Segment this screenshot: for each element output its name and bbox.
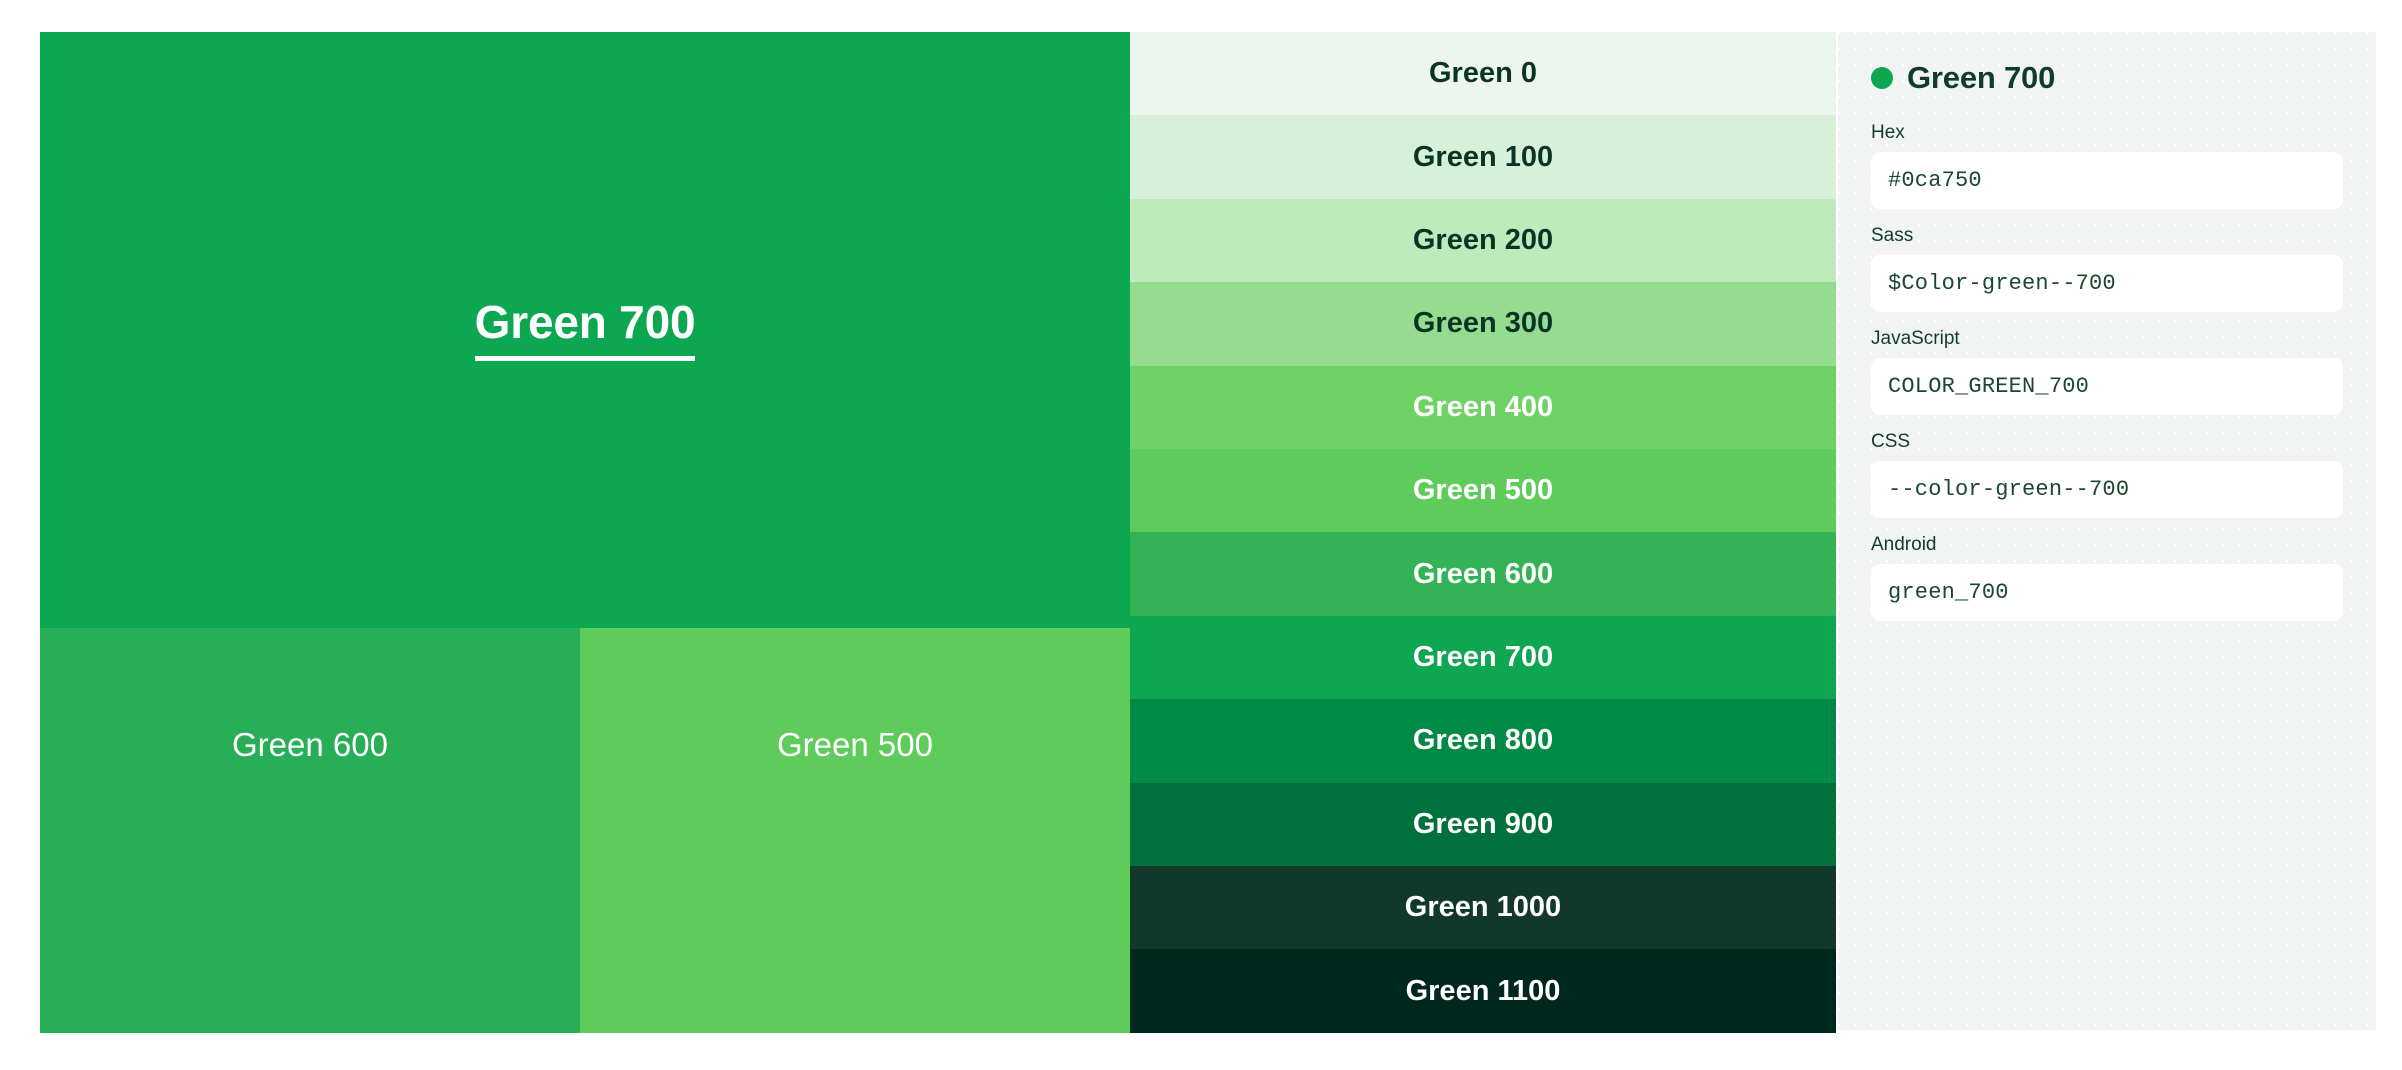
token-field: Sass$Color-green--700 <box>1871 226 2343 312</box>
color-ramp-row-label: Green 300 <box>1413 309 1553 338</box>
token-field-label: JavaScript <box>1871 329 2343 348</box>
token-field: CSS--color-green--700 <box>1871 432 2343 518</box>
color-ramp-row[interactable]: Green 1100 <box>1130 949 1836 1032</box>
token-field: Androidgreen_700 <box>1871 535 2343 621</box>
color-ramp-row-label: Green 400 <box>1413 393 1553 422</box>
color-ramp-row-label: Green 800 <box>1413 726 1553 755</box>
color-ramp-row-label: Green 100 <box>1413 143 1553 172</box>
color-ramp-row[interactable]: Green 200 <box>1130 199 1836 282</box>
color-ramp-row-label: Green 900 <box>1413 810 1553 839</box>
color-ramp-row-label: Green 500 <box>1413 476 1553 505</box>
color-detail-panel: Green 700 Hex#0ca750Sass$Color-green--70… <box>1838 32 2376 1030</box>
color-ramp-row[interactable]: Green 300 <box>1130 282 1836 365</box>
token-field: Hex#0ca750 <box>1871 123 2343 209</box>
color-ramp-list: Green 0Green 100Green 200Green 300Green … <box>1130 32 1836 1033</box>
color-ramp-row[interactable]: Green 600 <box>1130 532 1836 615</box>
color-ramp-row[interactable]: Green 400 <box>1130 366 1836 449</box>
hero-main-swatch-label: Green 700 <box>475 299 696 361</box>
color-dot-icon <box>1871 67 1893 89</box>
color-ramp-row-label: Green 600 <box>1413 560 1553 589</box>
token-field-value[interactable]: #0ca750 <box>1871 152 2343 209</box>
color-palette-page: Green 700 Green 600 Green 500 Green 0Gre… <box>0 0 2402 1070</box>
color-ramp-row[interactable]: Green 500 <box>1130 449 1836 532</box>
token-field-label: Hex <box>1871 123 2343 142</box>
color-ramp-row-label: Green 1100 <box>1406 977 1561 1006</box>
color-ramp-row-label: Green 0 <box>1429 59 1537 88</box>
token-field-label: Android <box>1871 535 2343 554</box>
color-ramp-row-label: Green 700 <box>1413 643 1553 672</box>
token-field-value[interactable]: green_700 <box>1871 564 2343 621</box>
token-field: JavaScriptCOLOR_GREEN_700 <box>1871 329 2343 415</box>
color-ramp-row[interactable]: Green 900 <box>1130 783 1836 866</box>
hero-sub-swatch-label: Green 600 <box>232 728 388 761</box>
color-ramp-row[interactable]: Green 0 <box>1130 32 1836 115</box>
color-ramp-row[interactable]: Green 1000 <box>1130 866 1836 949</box>
token-field-list: Hex#0ca750Sass$Color-green--700JavaScrip… <box>1871 123 2343 621</box>
color-ramp-row-label: Green 1000 <box>1405 893 1561 922</box>
hero-preview-region: Green 700 Green 600 Green 500 <box>40 32 1130 1033</box>
token-field-label: CSS <box>1871 432 2343 451</box>
color-ramp-row[interactable]: Green 700 <box>1130 616 1836 699</box>
detail-panel-heading: Green 700 <box>1871 62 2343 93</box>
token-field-value[interactable]: --color-green--700 <box>1871 461 2343 518</box>
color-ramp-row[interactable]: Green 800 <box>1130 699 1836 782</box>
hero-sub-swatch-green-600[interactable]: Green 600 <box>40 628 580 1033</box>
token-field-label: Sass <box>1871 226 2343 245</box>
token-field-value[interactable]: COLOR_GREEN_700 <box>1871 358 2343 415</box>
token-field-value[interactable]: $Color-green--700 <box>1871 255 2343 312</box>
hero-sub-swatch-label: Green 500 <box>777 728 933 761</box>
hero-sub-swatch-green-500[interactable]: Green 500 <box>580 628 1130 1033</box>
color-ramp-row-label: Green 200 <box>1413 226 1553 255</box>
detail-panel-title: Green 700 <box>1907 62 2055 93</box>
hero-sub-swatch-row: Green 600 Green 500 <box>40 628 1130 1033</box>
color-ramp-row[interactable]: Green 100 <box>1130 115 1836 198</box>
hero-main-swatch[interactable]: Green 700 <box>40 32 1130 628</box>
